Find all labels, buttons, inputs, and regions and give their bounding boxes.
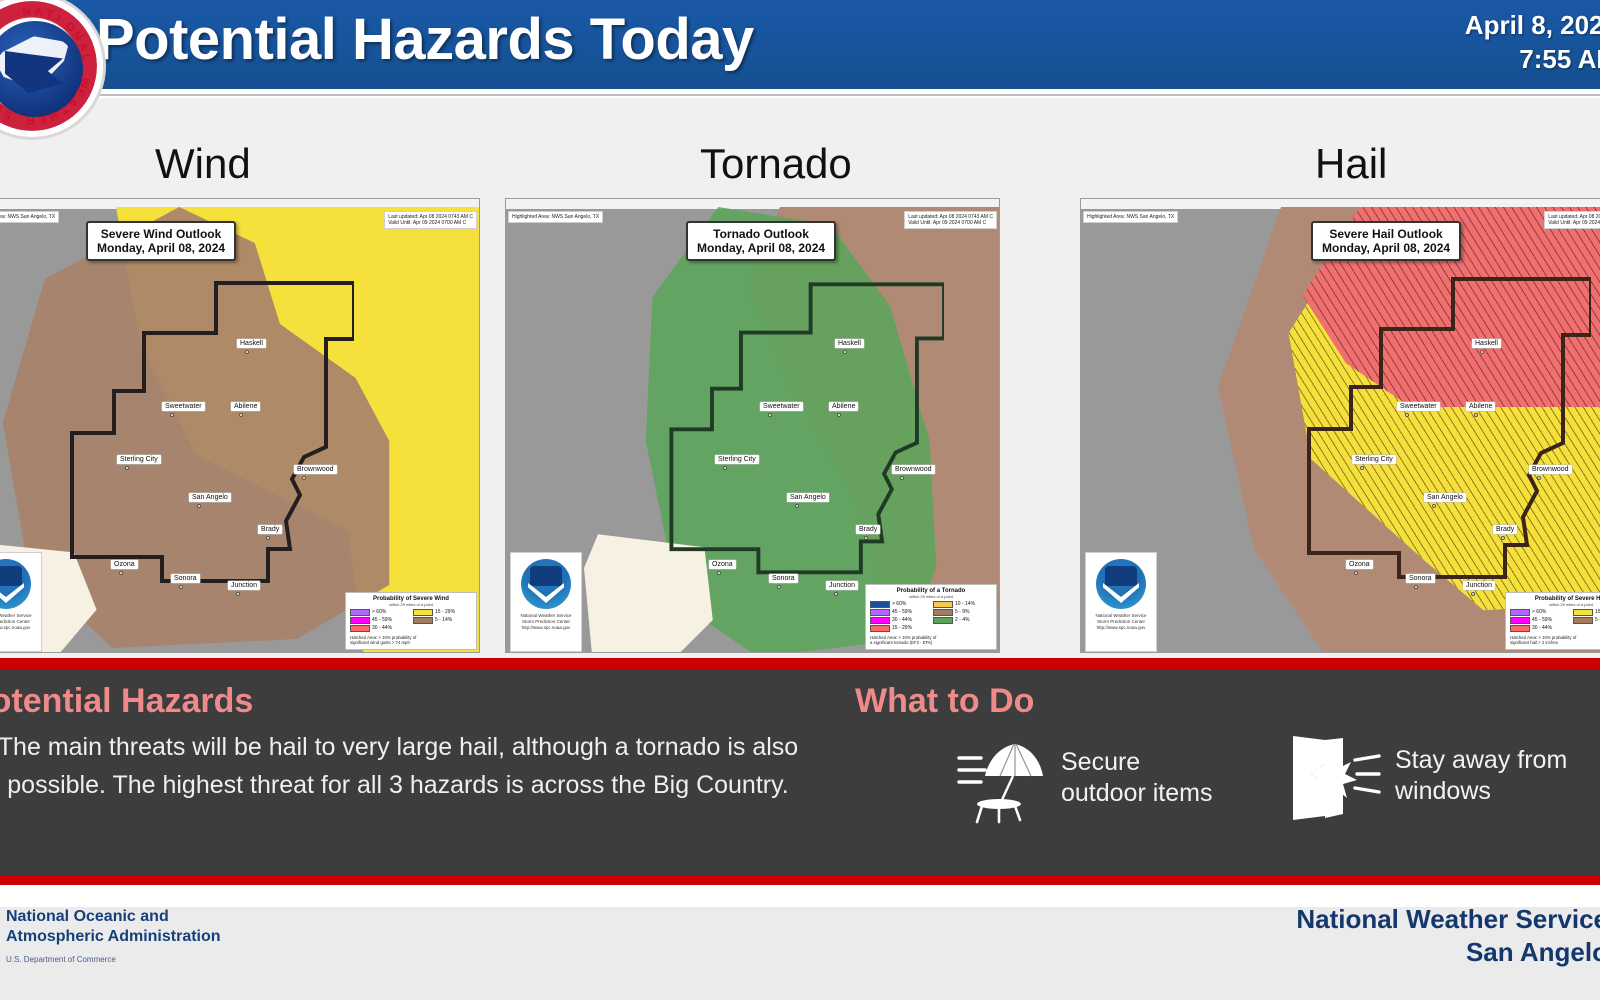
legend-row: 5 - 14% xyxy=(413,617,472,624)
city-marker xyxy=(1474,413,1478,417)
city-label: Brady xyxy=(258,525,282,534)
legend-label: 45 - 59% xyxy=(892,609,912,615)
city-marker xyxy=(245,350,249,354)
legend-label: 45 - 59% xyxy=(372,617,392,623)
legend-row: 45 - 59% xyxy=(350,617,409,624)
city-marker xyxy=(795,504,799,508)
legend-label: > 60% xyxy=(892,601,906,607)
legend-label: 30 - 44% xyxy=(1532,625,1552,631)
cwa-path xyxy=(654,277,944,597)
legend-row: 15 - 29% xyxy=(870,625,929,632)
legend-row: 2 - 4% xyxy=(933,617,992,624)
legend-swatch xyxy=(870,625,890,632)
legend-label: 30 - 44% xyxy=(372,625,392,631)
city-marker xyxy=(239,413,243,417)
spc-noaa-badge: National Weather ServiceStorm Prediction… xyxy=(0,552,42,652)
city-label: Sonora xyxy=(1406,574,1435,583)
city-label: Sonora xyxy=(769,574,798,583)
city-marker xyxy=(1360,466,1364,470)
city-label: Abilene xyxy=(829,402,858,411)
legend-row: 5 - 14% xyxy=(1573,617,1600,624)
nws-roundel-logo: NATIONALWEATHERSERVICE xyxy=(0,0,106,140)
legend-row: > 60% xyxy=(1510,609,1569,616)
legend-swatch xyxy=(1510,609,1530,616)
legend-label: 15 - 29% xyxy=(892,625,912,631)
patio-umbrella-icon xyxy=(955,732,1047,824)
panel-title-tornado: Tornado xyxy=(700,140,852,188)
city-marker xyxy=(179,585,183,589)
legend-swatch xyxy=(933,609,953,616)
city-marker xyxy=(266,536,270,540)
map-tornado[interactable]: Highlighted Area: NWS San Angelo, TX Las… xyxy=(505,198,1000,653)
todo-stay-away-from-windows: Stay away from windows xyxy=(1285,728,1567,824)
city-label: Abilene xyxy=(231,402,260,411)
spc-badge-text: National Weather ServiceStorm Prediction… xyxy=(511,613,581,631)
city-label: San Angelo xyxy=(189,493,231,502)
city-label: Brady xyxy=(1493,525,1517,534)
legend-swatch xyxy=(870,609,890,616)
legend-swatch xyxy=(1510,625,1530,632)
city-label: Haskell xyxy=(237,339,266,348)
legend-col-right: 15 - 29%5 - 14% xyxy=(1573,609,1600,633)
city-label: Junction xyxy=(826,581,858,590)
city-marker xyxy=(864,536,868,540)
legend-label: 45 - 59% xyxy=(1532,617,1552,623)
map-corner-note-right: Last updated: Apr 08 2024 0743 AM C Vali… xyxy=(904,211,997,229)
spc-noaa-badge: National Weather ServiceStorm Prediction… xyxy=(510,552,582,652)
city-label: Junction xyxy=(228,581,260,590)
city-marker xyxy=(1480,350,1484,354)
legend-swatch xyxy=(1573,617,1593,624)
noaa-seal-icon xyxy=(521,559,571,609)
legend-row: > 60% xyxy=(350,609,409,616)
page-title: Potential Hazards Today xyxy=(96,6,754,73)
spc-badge-text: National Weather ServiceStorm Prediction… xyxy=(0,613,41,631)
legend-swatch xyxy=(870,617,890,624)
noaa-footer-text: National Oceanic and Atmospheric Adminis… xyxy=(6,907,221,970)
page-header: Potential Hazards Today April 8, 2024 7:… xyxy=(0,0,1600,89)
header-divider xyxy=(0,89,1600,96)
page-footer: National Oceanic and Atmospheric Adminis… xyxy=(0,885,1600,1000)
legend-row: 30 - 44% xyxy=(1510,625,1569,632)
legend-label: 15 - 29% xyxy=(1595,609,1600,615)
city-marker xyxy=(119,571,123,575)
cwa-boundary xyxy=(54,281,354,601)
legend-label: > 60% xyxy=(1532,609,1546,615)
city-marker xyxy=(723,466,727,470)
city-label: Haskell xyxy=(1472,339,1501,348)
header-datetime: April 8, 2024 7:55 AM xyxy=(1465,8,1600,76)
noaa-seal-icon xyxy=(1096,559,1146,609)
city-label: San Angelo xyxy=(1424,493,1466,502)
city-label: Sweetwater xyxy=(162,402,205,411)
map-corner-note-left: Highlighted Area: NWS San Angelo, TX xyxy=(0,211,59,223)
legend-col-left: > 60%45 - 59%30 - 44% xyxy=(1510,609,1569,633)
panel-title-hail: Hail xyxy=(1315,140,1387,188)
map-corner-note-left: Highlighted Area: NWS San Angelo, TX xyxy=(508,211,603,223)
city-label: San Angelo xyxy=(787,493,829,502)
todo-label: Stay away from windows xyxy=(1395,745,1567,807)
legend-label: 2 - 4% xyxy=(955,617,969,623)
legend-row: 30 - 44% xyxy=(350,625,409,632)
legend-label: 30 - 44% xyxy=(892,617,912,623)
legend-label: 15 - 29% xyxy=(435,609,455,615)
legend-swatch xyxy=(413,617,433,624)
city-label: Brownwood xyxy=(892,465,935,474)
city-marker xyxy=(777,585,781,589)
legend-swatch xyxy=(350,609,370,616)
city-marker xyxy=(1501,536,1505,540)
city-label: Ozona xyxy=(1346,560,1373,569)
map-caption-wind: Severe Wind Outlook Monday, April 08, 20… xyxy=(86,221,236,261)
city-label: Ozona xyxy=(111,560,138,569)
header-date: April 8, 2024 xyxy=(1465,8,1600,42)
city-label: Ozona xyxy=(709,560,736,569)
city-marker xyxy=(1471,592,1475,596)
city-marker xyxy=(1432,504,1436,508)
spc-noaa-badge: National Weather ServiceStorm Prediction… xyxy=(1085,552,1157,652)
city-label: Brownwood xyxy=(294,465,337,474)
todo-label: Secure outdoor items xyxy=(1061,747,1212,809)
legend-swatch xyxy=(933,601,953,608)
city-label: Abilene xyxy=(1466,402,1495,411)
legend-swatch xyxy=(933,617,953,624)
map-corner-note-right: Last updated: Apr 08 2024 0743 AM C Vali… xyxy=(1544,211,1600,229)
legend-row: > 60% xyxy=(870,601,929,608)
legend-row: 30 - 44% xyxy=(870,617,929,624)
city-label: Brownwood xyxy=(1529,465,1572,474)
logo-ring-text: NATIONALWEATHERSERVICE xyxy=(0,0,103,137)
city-label: Junction xyxy=(1463,581,1495,590)
legend-footnote: Hatched Area: > 10% probability of signi… xyxy=(350,635,472,646)
city-marker xyxy=(834,592,838,596)
noaa-seal-icon xyxy=(0,559,31,609)
potential-hazards-text: The main threats will be hail to very la… xyxy=(0,728,808,804)
city-marker xyxy=(1354,571,1358,575)
spc-badge-text: National Weather ServiceStorm Prediction… xyxy=(1086,613,1156,631)
city-marker xyxy=(843,350,847,354)
legend-row: 45 - 59% xyxy=(1510,617,1569,624)
hazard-graphic-page: Potential Hazards Today April 8, 2024 7:… xyxy=(0,0,1600,1000)
city-label: Sterling City xyxy=(117,455,161,464)
city-marker xyxy=(717,571,721,575)
broken-window-icon xyxy=(1285,728,1381,824)
city-marker xyxy=(900,476,904,480)
map-wind[interactable]: Highlighted Area: NWS San Angelo, TX Las… xyxy=(0,198,480,653)
cwa-path xyxy=(1291,277,1591,597)
legend-tornado: Probability of a Tornado within 25 miles… xyxy=(865,584,997,650)
todo-secure-outdoor-items: Secure outdoor items xyxy=(955,732,1212,824)
map-caption-hail: Severe Hail Outlook Monday, April 08, 20… xyxy=(1311,221,1461,261)
legend-row: 10 - 14% xyxy=(933,601,992,608)
legend-label: > 60% xyxy=(372,609,386,615)
legend-swatch xyxy=(1573,609,1593,616)
city-marker xyxy=(1405,413,1409,417)
legend-col-right: 10 - 14%5 - 9%2 - 4% xyxy=(933,601,992,633)
map-corner-note-right: Last updated: Apr 08 2024 0743 AM C Vali… xyxy=(384,211,477,229)
cwa-boundary xyxy=(1291,277,1591,597)
hazard-info-band: Potential Hazards The main threats will … xyxy=(0,658,1600,885)
legend-wind: Probability of Severe Wind within 25 mil… xyxy=(345,592,477,650)
city-label: Sonora xyxy=(171,574,200,583)
legend-row: 45 - 59% xyxy=(870,609,929,616)
legend-swatch xyxy=(350,617,370,624)
map-hail[interactable]: Highlighted Area: NWS San Angelo, TX Las… xyxy=(1080,198,1600,653)
legend-swatch xyxy=(1510,617,1530,624)
legend-col-right: 15 - 29%5 - 14% xyxy=(413,609,472,633)
legend-label: 5 - 14% xyxy=(435,617,452,623)
map-caption-tornado: Tornado Outlook Monday, April 08, 2024 xyxy=(686,221,836,261)
city-marker xyxy=(1414,585,1418,589)
header-time: 7:55 AM xyxy=(1465,42,1600,76)
city-marker xyxy=(236,592,240,596)
legend-footnote: Hatched Area: > 10% probability of signi… xyxy=(1510,635,1600,646)
legend-hail: Probability of Severe Hail within 25 mil… xyxy=(1505,592,1600,650)
city-label: Haskell xyxy=(835,339,864,348)
map-corner-note-left: Highlighted Area: NWS San Angelo, TX xyxy=(1083,211,1178,223)
city-marker xyxy=(197,504,201,508)
legend-row: 5 - 9% xyxy=(933,609,992,616)
city-label: Sterling City xyxy=(715,455,759,464)
legend-swatch xyxy=(350,625,370,632)
city-label: Sweetwater xyxy=(1397,402,1440,411)
cwa-path xyxy=(54,281,354,601)
cwa-boundary xyxy=(654,277,944,597)
city-marker xyxy=(1537,476,1541,480)
outlook-maps-band: Wind Highlighted Area: NWS San Angelo, T… xyxy=(0,98,1600,658)
legend-col-left: > 60%45 - 59%30 - 44% xyxy=(350,609,409,633)
city-label: Brady xyxy=(856,525,880,534)
legend-swatch xyxy=(870,601,890,608)
city-marker xyxy=(768,413,772,417)
city-label: Sweetwater xyxy=(760,402,803,411)
legend-swatch xyxy=(413,609,433,616)
what-to-do-heading: What to Do xyxy=(855,682,1034,721)
legend-row: 15 - 29% xyxy=(413,609,472,616)
city-marker xyxy=(170,413,174,417)
legend-label: 5 - 14% xyxy=(1595,617,1600,623)
legend-row: 15 - 29% xyxy=(1573,609,1600,616)
panel-title-wind: Wind xyxy=(155,140,251,188)
potential-hazards-heading: Potential Hazards xyxy=(0,682,253,721)
legend-label: 5 - 9% xyxy=(955,609,969,615)
city-marker xyxy=(837,413,841,417)
legend-label: 10 - 14% xyxy=(955,601,975,607)
city-label: Sterling City xyxy=(1352,455,1396,464)
city-marker xyxy=(125,466,129,470)
legend-col-left: > 60%45 - 59%30 - 44%15 - 29% xyxy=(870,601,929,633)
city-marker xyxy=(302,476,306,480)
legend-footnote: Hatched Area: > 10% probability of a sig… xyxy=(870,635,992,646)
nws-footer-text: National Weather Service San Angelo xyxy=(1296,903,1600,969)
